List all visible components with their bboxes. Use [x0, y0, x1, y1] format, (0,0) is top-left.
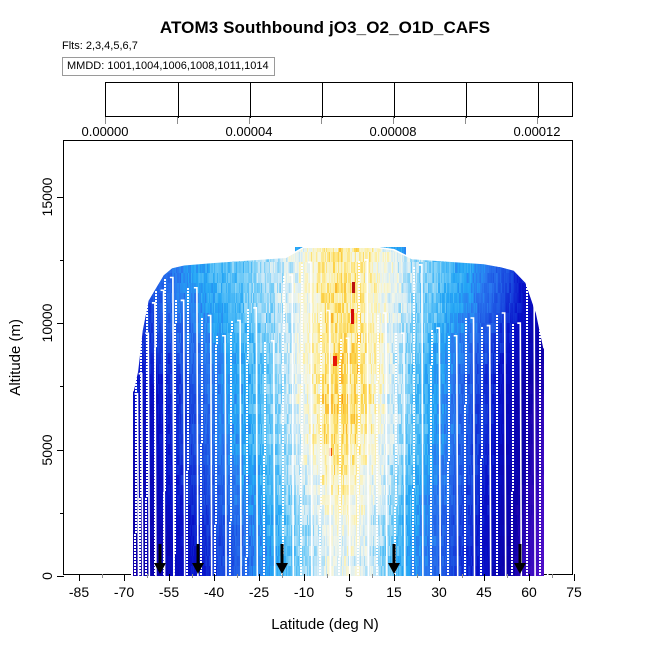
curtain-heatmap: [64, 141, 574, 576]
colorbar-divider: [538, 83, 539, 118]
colorbar-divider: [394, 83, 395, 118]
colorbar-tick: [393, 117, 394, 124]
x-axis-label: 75: [566, 584, 582, 600]
colorbar-label: 0.00004: [226, 124, 273, 139]
y-axis-minor-tick: [60, 386, 64, 387]
x-axis-minor-tick: [327, 574, 328, 578]
y-axis-minor-tick: [60, 513, 64, 514]
colorbar-divider: [250, 83, 251, 118]
marker-arrow-icon: [154, 544, 167, 574]
y-axis-tick: [57, 323, 64, 324]
x-axis-label: 45: [476, 584, 492, 600]
flights-annotation: Flts: 2,3,4,5,6,7: [62, 40, 138, 52]
marker-arrow-icon: [191, 544, 204, 574]
colorbar-label: 0.00012: [514, 124, 561, 139]
colorbar-tick: [465, 117, 466, 124]
y-axis-title: Altitude (m): [6, 140, 24, 575]
colorbar-tick: [249, 117, 250, 124]
x-axis-tick: [124, 574, 125, 581]
colorbar-divider: [322, 83, 323, 118]
x-axis-minor-tick: [192, 574, 193, 578]
colorbar-divider: [466, 83, 467, 118]
x-axis-minor-tick: [417, 574, 418, 578]
colorbar: 0.000000.000040.000080.00012: [105, 82, 573, 117]
x-axis-tick: [484, 574, 485, 581]
marker-arrow-icon: [388, 544, 401, 574]
x-axis-label: -40: [204, 584, 224, 600]
x-axis-tick: [79, 574, 80, 581]
colorbar-dividers: [106, 83, 574, 118]
x-axis-minor-tick: [237, 574, 238, 578]
y-axis-tick: [57, 450, 64, 451]
x-axis-minor-tick: [507, 574, 508, 578]
x-axis-label: -10: [294, 584, 314, 600]
y-axis-title-text: Altitude (m): [7, 319, 24, 396]
colorbar-tick: [177, 117, 178, 124]
colorbar-ticks: [105, 117, 573, 124]
x-axis-label: -25: [249, 584, 269, 600]
marker-arrow-icon: [514, 544, 527, 574]
y-axis-tick: [57, 197, 64, 198]
x-axis-label: -70: [114, 584, 134, 600]
colorbar-tick: [321, 117, 322, 124]
x-axis-tick: [259, 574, 260, 581]
x-axis-label: 30: [431, 584, 447, 600]
y-axis-tick: [57, 576, 64, 577]
x-axis-tick: [529, 574, 530, 581]
x-axis-title: Latitude (deg N): [0, 616, 650, 633]
x-axis-label: -55: [159, 584, 179, 600]
y-axis-label: 0: [39, 572, 55, 580]
x-axis-tick: [169, 574, 170, 581]
x-axis-label: 15: [386, 584, 402, 600]
y-axis-minor-tick: [60, 260, 64, 261]
colorbar-label: 0.00000: [82, 124, 129, 139]
colorbar-divider: [178, 83, 179, 118]
x-axis-minor-tick: [282, 574, 283, 578]
x-axis-tick: [439, 574, 440, 581]
x-axis-tick: [304, 574, 305, 581]
x-axis-label: 60: [521, 584, 537, 600]
x-axis-tick: [349, 574, 350, 581]
x-axis-label: -85: [69, 584, 89, 600]
marker-arrow-icon: [275, 544, 288, 574]
colorbar-tick: [105, 117, 106, 124]
colorbar-label: 0.00008: [370, 124, 417, 139]
y-axis-label: 5000: [39, 434, 55, 465]
y-axis-label: 15000: [39, 177, 55, 216]
x-axis-minor-tick: [552, 574, 553, 578]
page-title: ATOM3 Southbound jO3_O2_O1D_CAFS: [0, 18, 650, 38]
figure-canvas: ATOM3 Southbound jO3_O2_O1D_CAFS Flts: 2…: [0, 0, 650, 650]
x-axis-tick: [394, 574, 395, 581]
x-axis-tick: [574, 574, 575, 581]
plot-area: 050001000015000 -85-70-55-40-25-10515304…: [63, 140, 573, 575]
colorbar-tick: [537, 117, 538, 124]
colorbar-gradient: [105, 82, 573, 117]
x-axis-tick: [214, 574, 215, 581]
x-axis-label: 5: [345, 584, 353, 600]
x-axis-minor-tick: [372, 574, 373, 578]
mmdd-annotation: MMDD: 1001,1004,1006,1008,1011,1014: [62, 57, 275, 76]
x-axis-minor-tick: [147, 574, 148, 578]
y-axis-label: 10000: [39, 304, 55, 343]
x-axis-minor-tick: [462, 574, 463, 578]
x-axis-minor-tick: [102, 574, 103, 578]
